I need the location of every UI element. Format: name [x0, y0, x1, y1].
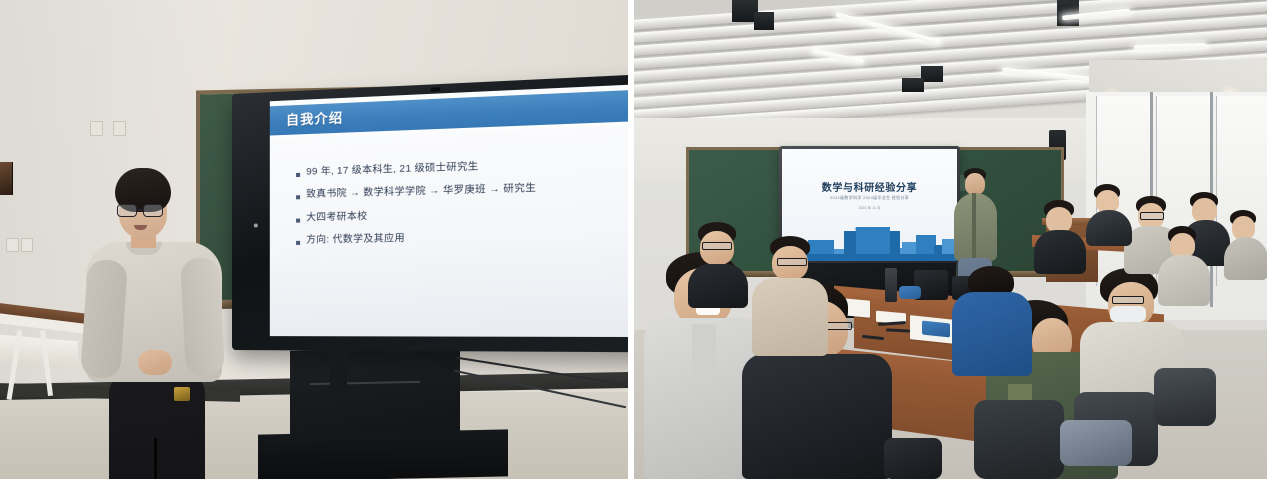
bullet-marker-icon: [296, 241, 300, 245]
student-back-row: [1034, 200, 1086, 274]
bullet-text: 致真书院 → 数学科学学院 → 华罗庚班 → 研究生: [306, 183, 536, 202]
presenter-left-arm: [80, 259, 128, 380]
student-blue-jacket: [952, 266, 1032, 376]
interactive-flat-panel[interactable]: 自我介绍 99 年, 17 级本科生, 21 级硕士研究生 致真书院 → 数学科…: [232, 74, 628, 353]
student-glasses-smiling: [688, 222, 748, 308]
bezel-camera-icon: [431, 87, 441, 92]
title-slide-date: 2024 年 11 月: [782, 206, 957, 211]
wall-outlet[interactable]: [21, 238, 33, 252]
presenter-left: [86, 168, 222, 479]
backpack-on-floor: [884, 438, 942, 479]
bullet-text: 方向: 代数学及其应用: [306, 233, 405, 247]
left-photo-panel: 自我介绍 99 年, 17 级本科生, 21 级硕士研究生 致真书院 → 数学科…: [0, 0, 628, 479]
slide-bullet-item: 大四考研本校: [296, 205, 628, 225]
classroom-chair: [1154, 368, 1216, 426]
right-photo-panel: 数学与科研经验分享 2021级数学科学 2024届毕业生 经验分享 2024 年…: [634, 0, 1267, 479]
student-back-row: [1086, 184, 1132, 246]
display-stand-neck: [330, 345, 347, 393]
photo-collage: 自我介绍 99 年, 17 级本科生, 21 级硕士研究生 致真书院 → 数学科…: [0, 0, 1267, 479]
backpack-on-chair: [1060, 420, 1132, 466]
slide-bullet-list: 99 年, 17 级本科生, 21 级硕士研究生 致真书院 → 数学科学学院 →…: [296, 156, 628, 258]
presenter-right-arm: [180, 257, 225, 377]
leg-separation: [154, 438, 157, 479]
eyeglasses-icon: [702, 242, 732, 250]
presenter-face: [965, 173, 985, 195]
presenter-legs: [109, 373, 205, 479]
student-jacket: [952, 292, 1032, 376]
wall-switch[interactable]: [113, 121, 126, 136]
bullet-marker-icon: [296, 196, 300, 200]
bullet-marker-icon: [296, 218, 300, 222]
wall-outlet[interactable]: [6, 238, 19, 252]
presenter-hands: [138, 350, 172, 375]
title-slide-subtitle: 2021级数学科学 2024届毕业生 经验分享: [782, 195, 957, 201]
slide-bullet-item: 99 年, 17 级本科生, 21 级硕士研究生: [296, 156, 628, 179]
pants-logo: [174, 387, 190, 401]
eyeglasses-icon: [777, 258, 807, 266]
blue-folder: [922, 321, 950, 338]
hoodie-hood: [692, 324, 716, 380]
student-jacket: [688, 264, 748, 308]
jacket-zipper: [972, 193, 976, 259]
title-slide-heading: 数学与科研经验分享: [782, 179, 957, 194]
eyeglasses-icon: [117, 204, 169, 217]
student-hoodie: [742, 354, 892, 479]
wall-picture: [0, 162, 13, 195]
slide-title: 自我介绍: [286, 107, 343, 129]
student-back-row: [1158, 226, 1210, 306]
slide-screen: 自我介绍 99 年, 17 级本科生, 21 级硕士研究生 致真书院 → 数学科…: [270, 84, 628, 337]
display-stand-base: [258, 429, 508, 479]
slide-bullet-item: 方向: 代数学及其应用: [296, 229, 628, 247]
bullet-text: 大四考研本校: [306, 211, 367, 225]
student-back-row: [1224, 210, 1267, 280]
student-standing-beige: [752, 236, 828, 356]
classroom-chair: [974, 400, 1064, 479]
bullet-marker-icon: [296, 173, 300, 177]
bullet-text: 99 年, 17 级本科生, 21 级硕士研究生: [306, 161, 478, 179]
wall-switch[interactable]: [90, 121, 103, 136]
eyeglasses-icon: [1112, 296, 1144, 304]
face-mask: [1110, 306, 1146, 322]
blue-pouch: [899, 286, 921, 299]
slide-bullet-item: 致真书院 → 数学科学学院 → 华罗庚班 → 研究生: [296, 180, 628, 202]
student-sweater: [752, 278, 828, 356]
